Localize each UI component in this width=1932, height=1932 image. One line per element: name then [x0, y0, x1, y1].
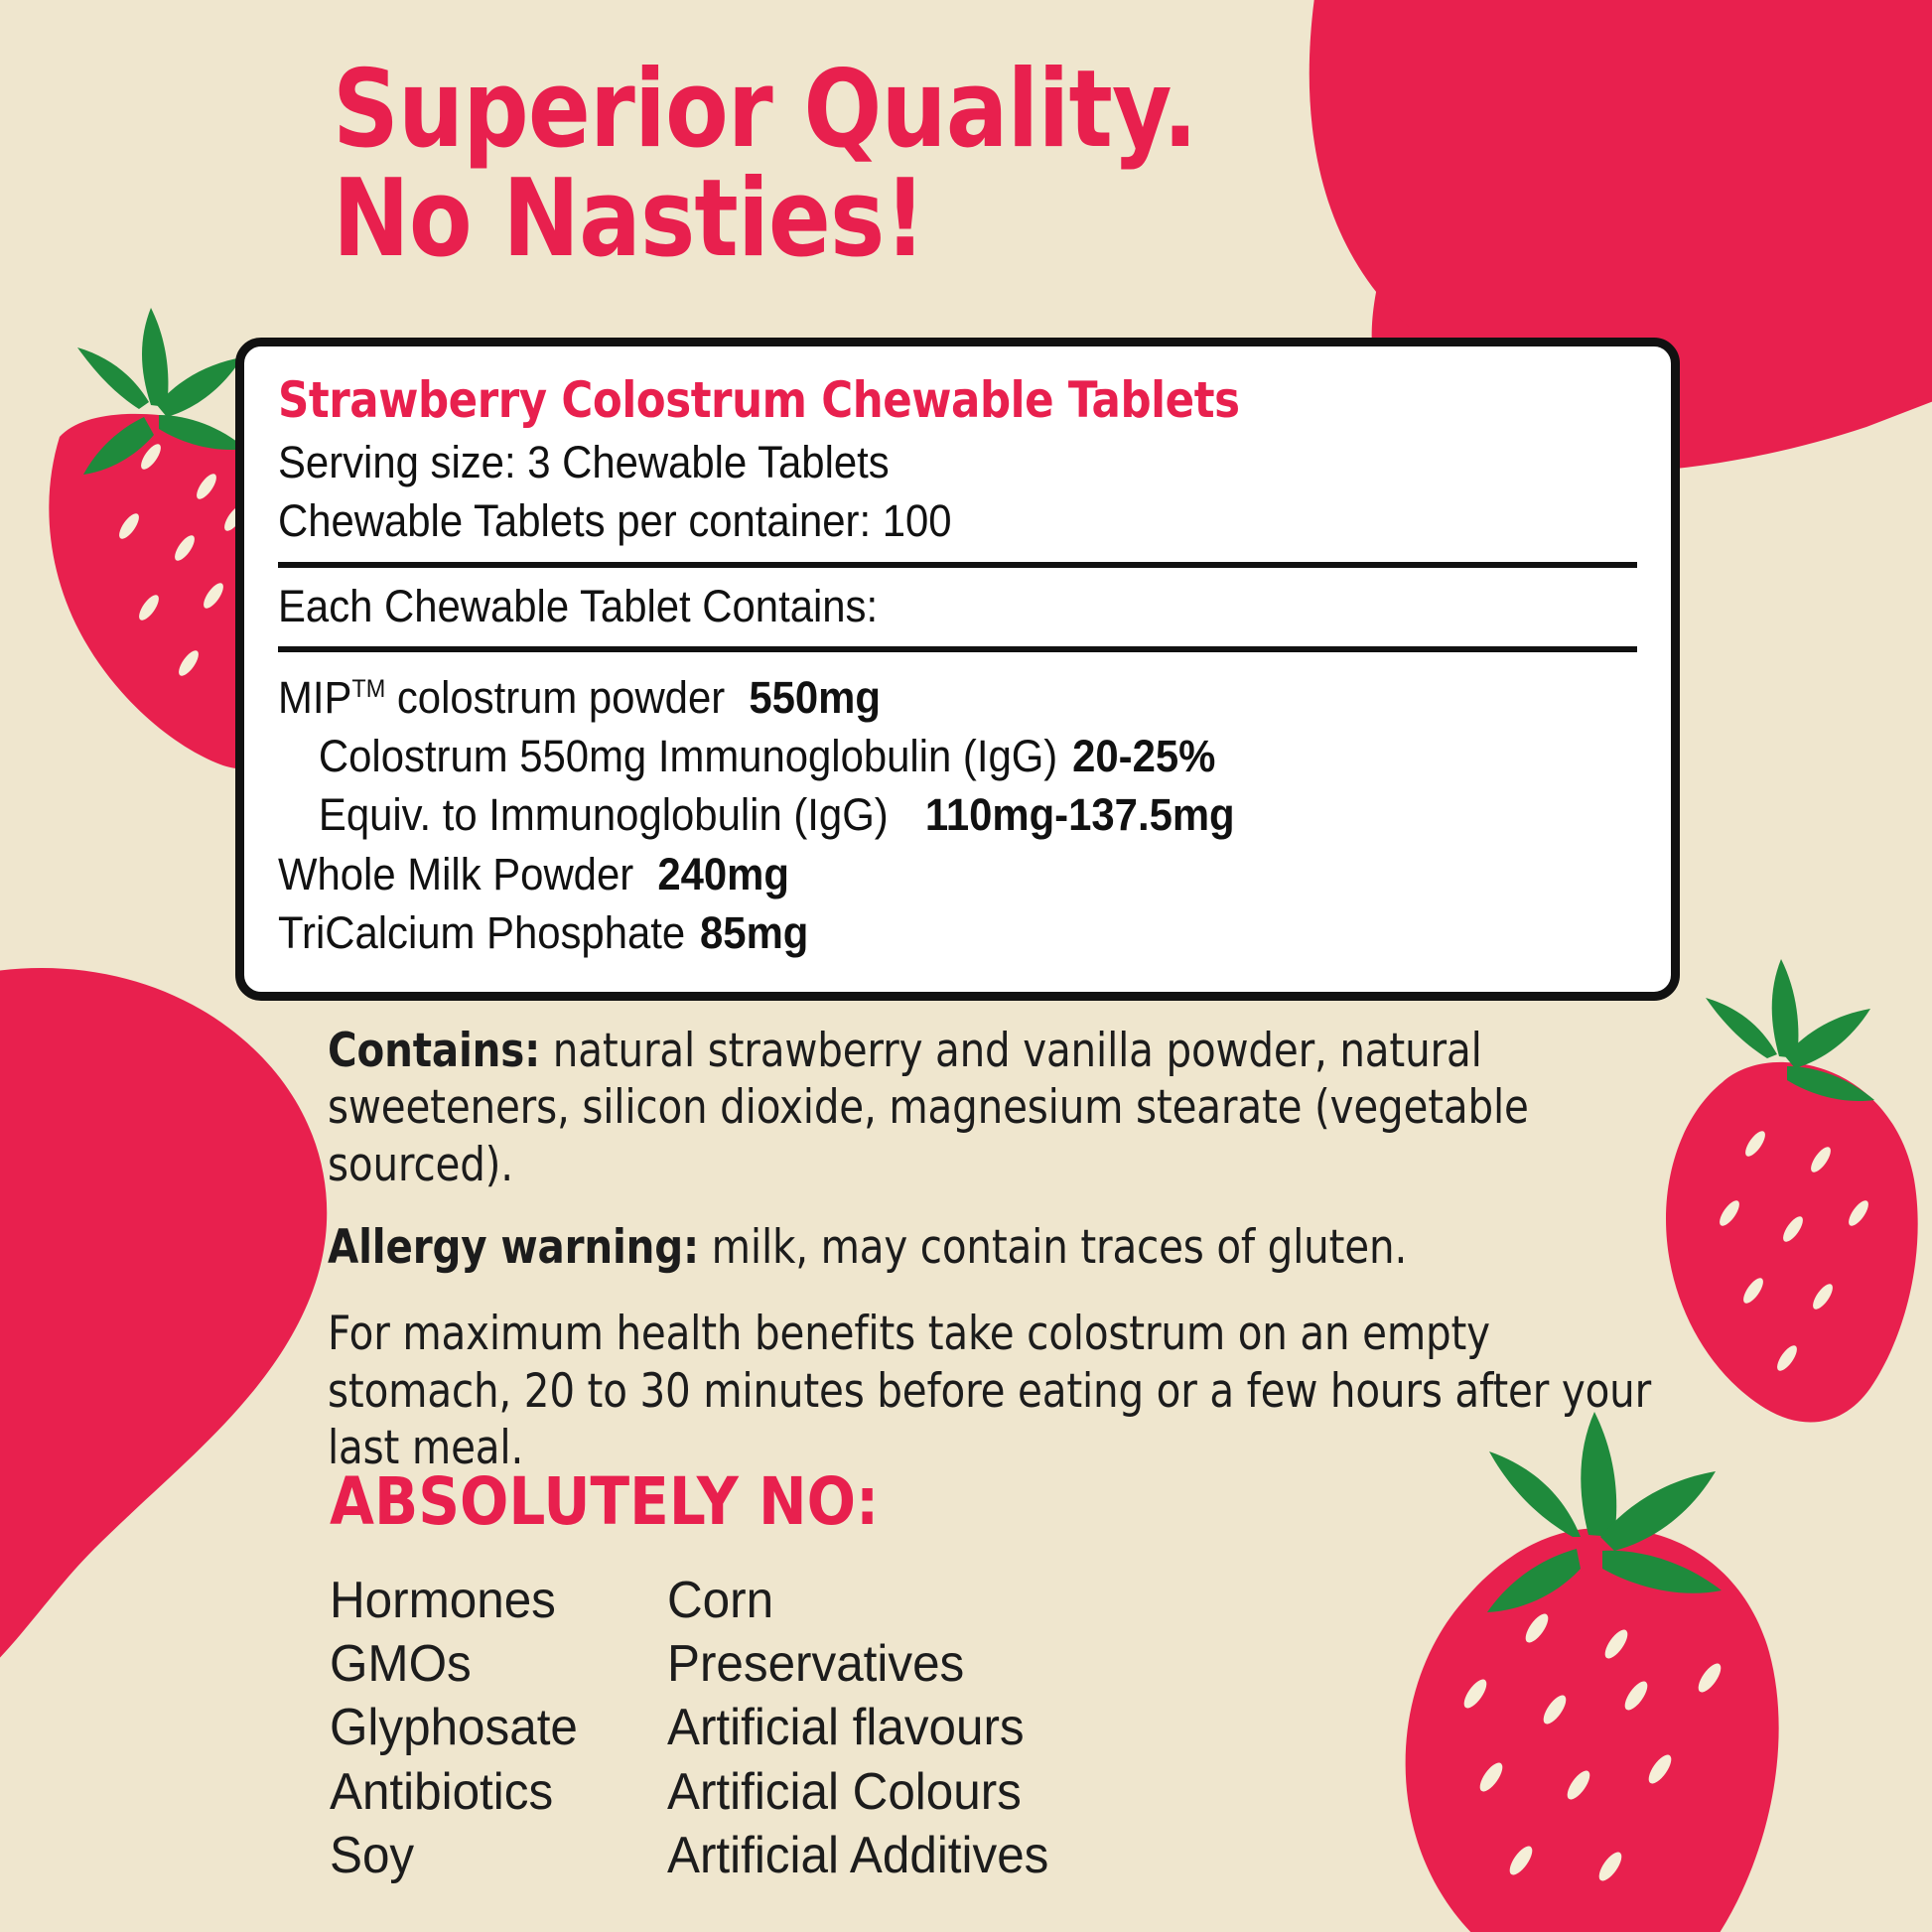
allergy-paragraph: Allergy warning: milk, may contain trace…: [328, 1219, 1655, 1276]
ingredient-row: TriCalcium Phosphate85mg: [278, 903, 1542, 962]
absolutely-no-column-left: Hormones GMOs Glyphosate Antibiotics Soy: [330, 1569, 667, 1887]
list-item: Corn: [667, 1569, 1048, 1632]
contains-paragraph: Contains: natural strawberry and vanilla…: [328, 1023, 1655, 1193]
list-item: Hormones: [330, 1569, 650, 1632]
strawberry-icon-mid-right: [1666, 959, 1918, 1423]
ingredient-row: Whole Milk Powder240mg: [278, 845, 1542, 903]
list-item: Antibiotics: [330, 1760, 650, 1824]
absolutely-no-column-right: Corn Preservatives Artificial flavours A…: [667, 1569, 1069, 1887]
panel-title: Strawberry Colostrum Chewable Tablets: [278, 372, 1460, 428]
ingredient-name: Whole Milk Powder: [278, 849, 633, 899]
ingredient-amount: 550mg: [749, 672, 881, 723]
per-container-line: Chewable Tablets per container: 100: [278, 492, 1542, 551]
absolutely-no-heading: ABSOLUTELY NO:: [330, 1463, 879, 1540]
contains-label: Contains:: [328, 1024, 540, 1078]
ingredient-amount: 240mg: [657, 849, 789, 899]
ingredient-row: Colostrum 550mg Immunoglobulin (IgG)20-2…: [278, 727, 1542, 785]
list-item: GMOs: [330, 1632, 650, 1696]
list-item: Artificial flavours: [667, 1696, 1048, 1759]
allergy-label: Allergy warning:: [328, 1220, 699, 1275]
contains-header: Each Chewable Tablet Contains:: [278, 578, 1542, 636]
ingredient-name: Equiv. to Immunoglobulin (IgG): [319, 789, 889, 840]
ingredient-row: MIPTM colostrum powder550mg: [278, 668, 1542, 727]
serving-size-line: Serving size: 3 Chewable Tablets: [278, 434, 1542, 492]
list-item: Soy: [330, 1824, 650, 1887]
list-item: Artificial Colours: [667, 1760, 1048, 1824]
red-blob-left: [0, 968, 327, 1708]
trademark-mark: TM: [351, 675, 385, 703]
ingredient-name-suffix: colostrum powder: [385, 672, 725, 723]
body-text-block: Contains: natural strawberry and vanilla…: [328, 1023, 1658, 1502]
directions-paragraph: For maximum health benefits take colostr…: [328, 1306, 1655, 1476]
panel-divider-1: [278, 562, 1637, 568]
ingredient-amount: 20-25%: [1072, 731, 1215, 781]
absolutely-no-lists: Hormones GMOs Glyphosate Antibiotics Soy…: [330, 1569, 1069, 1887]
panel-divider-2: [278, 646, 1637, 652]
supplement-facts-panel: Strawberry Colostrum Chewable Tablets Se…: [235, 338, 1680, 1001]
page-headline: Superior Quality. No Nasties!: [333, 56, 1272, 274]
allergy-text: milk, may contain traces of gluten.: [699, 1220, 1407, 1275]
list-item: Preservatives: [667, 1632, 1048, 1696]
ingredient-name: MIP: [278, 672, 351, 723]
ingredient-amount: 85mg: [700, 907, 808, 958]
list-item: Artificial Additives: [667, 1824, 1048, 1887]
ingredient-amount: 110mg-137.5mg: [925, 789, 1235, 840]
list-item: Glyphosate: [330, 1696, 650, 1759]
headline-line-2: No Nasties!: [333, 165, 1272, 274]
ingredient-name: Colostrum 550mg Immunoglobulin (IgG): [319, 731, 1057, 781]
headline-line-1: Superior Quality.: [333, 56, 1272, 165]
ingredient-name: TriCalcium Phosphate: [278, 907, 685, 958]
ingredient-row: Equiv. to Immunoglobulin (IgG)110mg-137.…: [278, 785, 1542, 844]
